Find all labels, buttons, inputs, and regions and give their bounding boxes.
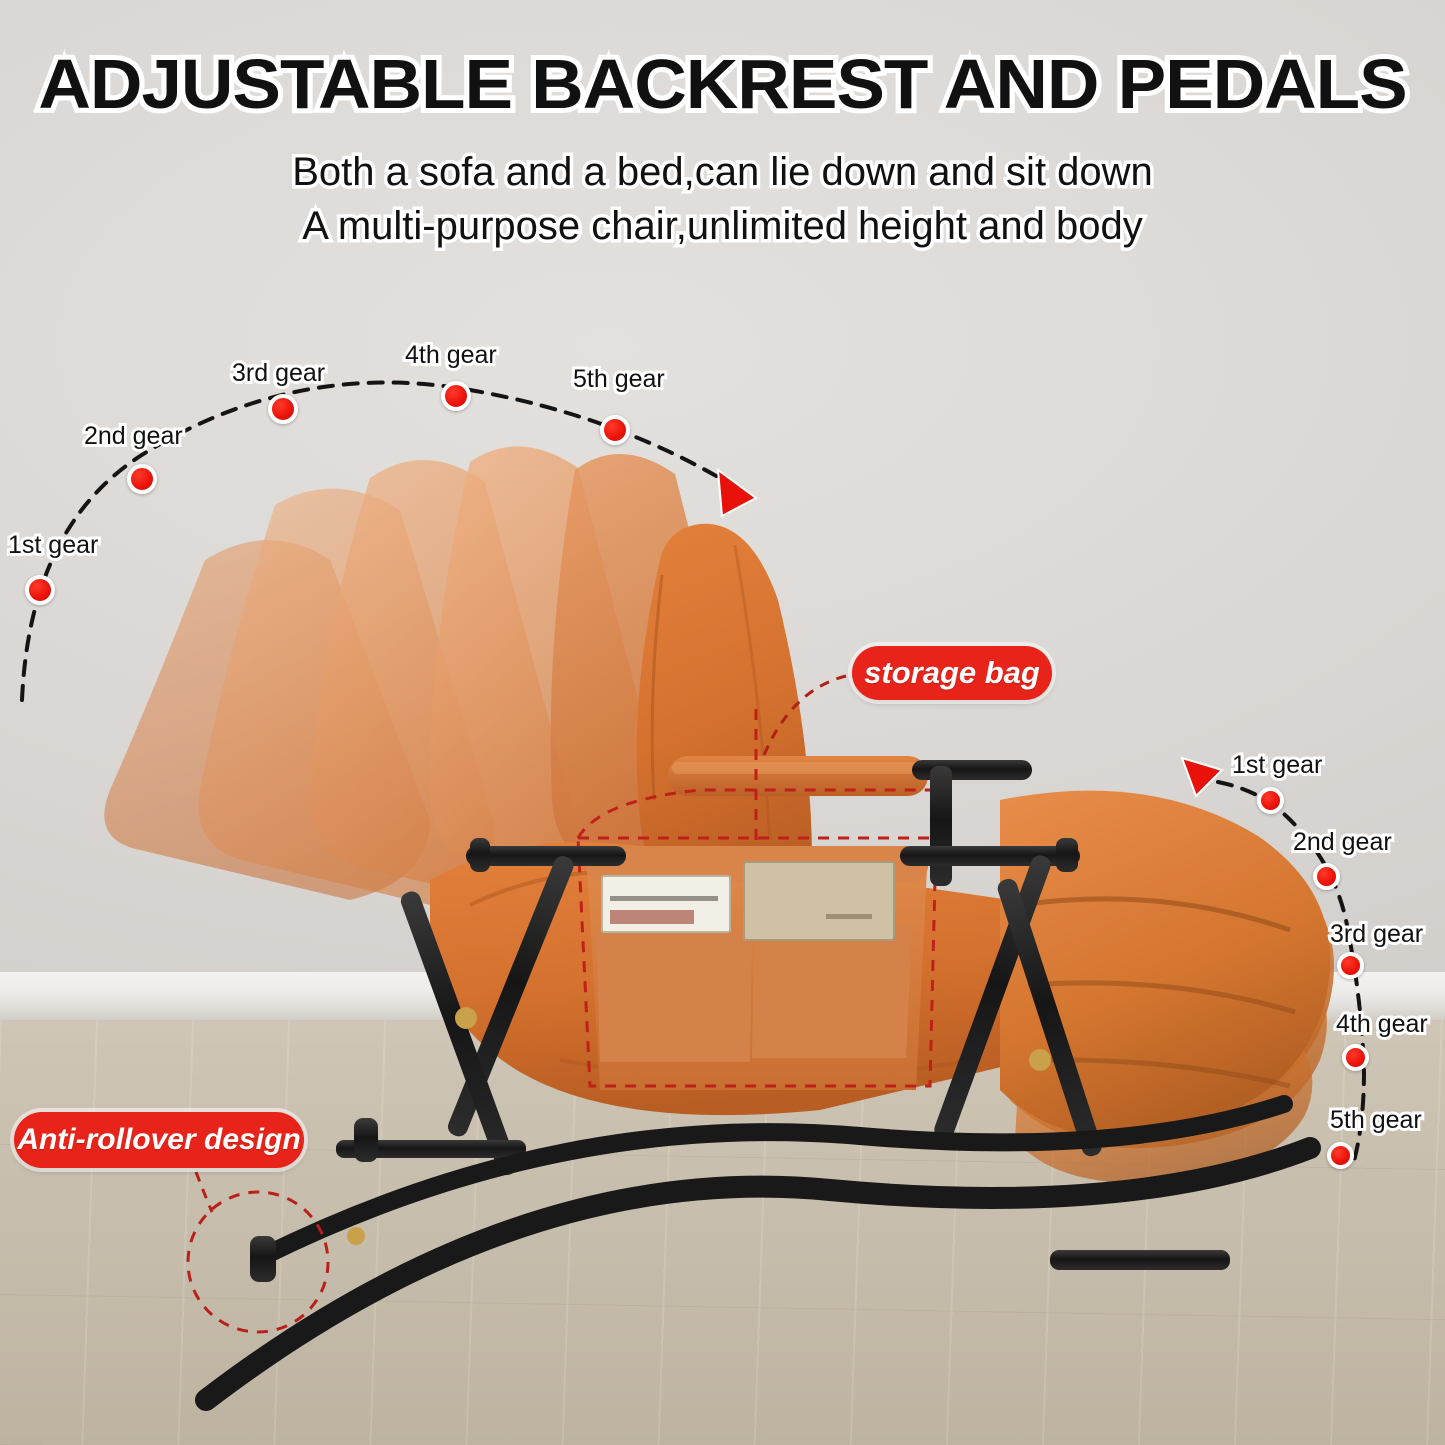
storage-bag-callout[interactable]: storage bag (852, 646, 1052, 700)
product-infographic: ADJUSTABLE BACKREST AND PEDALS Both a so… (0, 0, 1445, 1445)
anti-rollover-dashed-circle (188, 1192, 328, 1332)
anti-rollover-leader-line (196, 1172, 212, 1212)
anti-rollover-highlight (0, 0, 1445, 1445)
anti-rollover-callout[interactable]: Anti-rollover design (14, 1112, 304, 1168)
